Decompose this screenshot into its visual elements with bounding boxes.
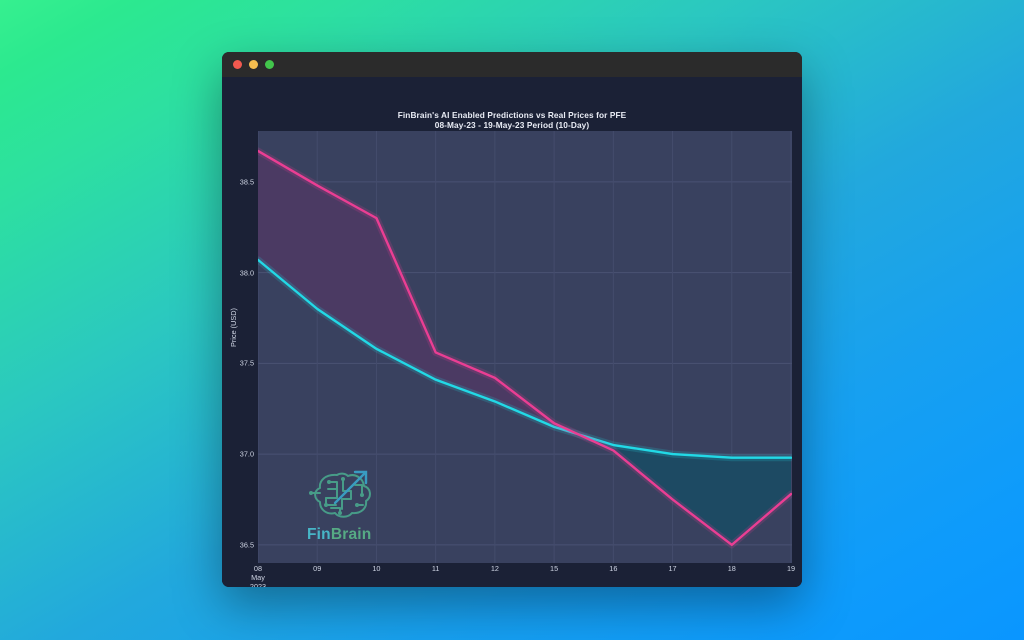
x-tick-label: 16 (609, 564, 617, 573)
x-tick-label: 17 (668, 564, 676, 573)
minimize-icon[interactable] (249, 60, 258, 69)
x-tick-label: 12 (491, 564, 499, 573)
finbrain-watermark: FinBrain (307, 465, 399, 555)
x-tick-label: 10 (372, 564, 380, 573)
y-axis-tick-labels: 38.538.037.537.036.5 (222, 77, 254, 587)
y-tick-label: 37.5 (240, 359, 254, 368)
x-tick-label: 09 (313, 564, 321, 573)
x-axis-tick-labels: 08May2023091011121516171819 (258, 564, 792, 587)
chart-title: FinBrain's AI Enabled Predictions vs Rea… (222, 110, 802, 131)
x-tick-label: 15 (550, 564, 558, 573)
chart-title-line2: 08-May-23 - 19-May-23 Period (10-Day) (222, 120, 802, 130)
x-tick-label: 11 (432, 564, 440, 573)
close-icon[interactable] (233, 60, 242, 69)
wordmark-fin: Fin (307, 526, 331, 543)
x-tick-label: 08May2023 (250, 564, 266, 587)
y-tick-label: 38.5 (240, 177, 254, 186)
circuit-brain-arrow-icon (307, 465, 381, 525)
chart-figure: FinBrain's AI Enabled Predictions vs Rea… (222, 77, 802, 587)
y-tick-label: 37.0 (240, 450, 254, 459)
y-tick-label: 36.5 (240, 540, 254, 549)
x-tick-label: 19 (787, 564, 795, 573)
y-axis-title: Price (USD) (229, 308, 238, 347)
plot-area: FinBrain (258, 131, 792, 563)
app-window: FinBrain's AI Enabled Predictions vs Rea… (222, 52, 802, 587)
y-tick-label: 38.0 (240, 268, 254, 277)
finbrain-wordmark: FinBrain (307, 526, 399, 544)
maximize-icon[interactable] (265, 60, 274, 69)
chart-title-line1: FinBrain's AI Enabled Predictions vs Rea… (398, 110, 627, 120)
wordmark-brain: Brain (331, 526, 372, 543)
window-titlebar[interactable] (222, 52, 802, 77)
x-tick-label: 18 (728, 564, 736, 573)
